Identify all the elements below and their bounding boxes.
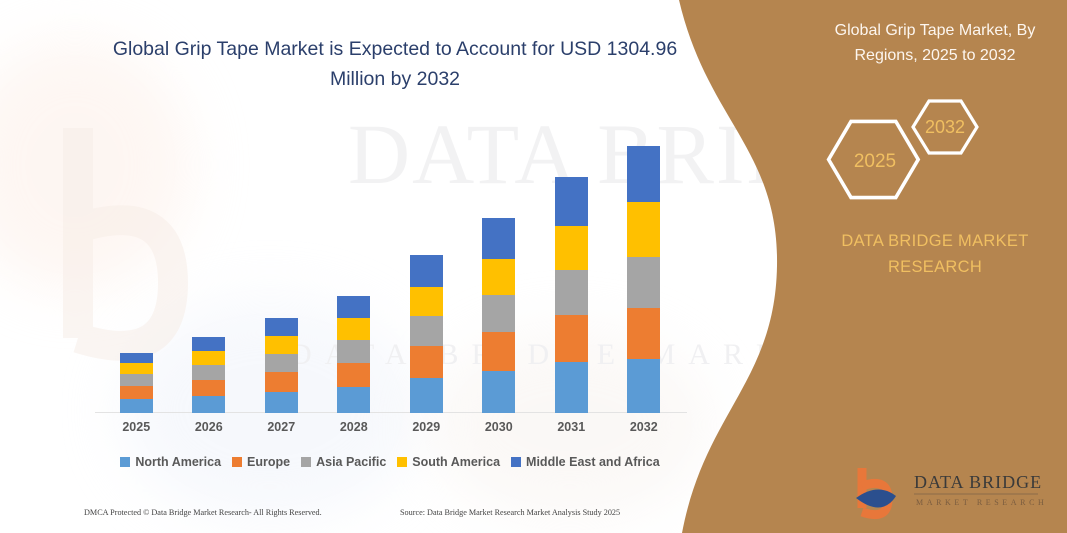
bar-segment xyxy=(120,374,153,386)
legend-swatch xyxy=(511,457,521,467)
bar-segment xyxy=(265,372,298,392)
bar-segment xyxy=(192,396,225,413)
infographic-canvas: DATA BRIDGE DATA BRIDGE MARKET RESEARCH … xyxy=(0,0,1067,533)
bar-segment xyxy=(482,259,515,295)
bar-segment xyxy=(482,295,515,332)
bar-segment xyxy=(337,363,370,387)
bar-segment xyxy=(337,340,370,363)
bar-column-2031 xyxy=(555,177,588,413)
x-axis-label-2028: 2028 xyxy=(337,420,370,434)
bar-segment xyxy=(265,392,298,413)
bar-column-2028 xyxy=(337,296,370,413)
bar-column-2026 xyxy=(192,337,225,413)
right-brand-panel: Global Grip Tape Market, By Regions, 202… xyxy=(647,0,1067,533)
bar-segment xyxy=(265,318,298,336)
chart-legend: North AmericaEuropeAsia PacificSouth Ame… xyxy=(100,455,680,469)
bar-segment xyxy=(192,337,225,351)
legend-label: Europe xyxy=(247,455,290,469)
x-axis-tick-labels: 20252026202720282029203020312032 xyxy=(100,420,680,434)
bar-segment xyxy=(120,353,153,363)
bar-segment xyxy=(337,296,370,318)
legend-item: North America xyxy=(120,455,221,469)
bar-segment xyxy=(410,255,443,287)
bar-segment xyxy=(482,332,515,371)
right-panel-title: Global Grip Tape Market, By Regions, 202… xyxy=(815,18,1055,68)
bar-segment xyxy=(265,354,298,372)
legend-item: Middle East and Africa xyxy=(511,455,660,469)
logo-tagline: MARKET RESEARCH xyxy=(916,498,1047,507)
x-axis-label-2026: 2026 xyxy=(192,420,225,434)
bar-segment xyxy=(120,399,153,413)
legend-item: Asia Pacific xyxy=(301,455,386,469)
bar-segment xyxy=(192,365,225,380)
bar-column-2025 xyxy=(120,353,153,413)
bar-segment xyxy=(337,387,370,413)
bar-segment xyxy=(410,316,443,346)
legend-label: South America xyxy=(412,455,500,469)
bar-column-2030 xyxy=(482,218,515,413)
bar-segment xyxy=(555,177,588,226)
bar-segment xyxy=(120,363,153,374)
hexagon-2025-label: 2032 xyxy=(925,117,965,137)
legend-swatch xyxy=(397,457,407,467)
legend-label: Asia Pacific xyxy=(316,455,386,469)
bar-segment xyxy=(555,315,588,362)
logo-name: DATA BRIDGE xyxy=(914,472,1042,492)
x-axis-label-2029: 2029 xyxy=(410,420,443,434)
chart-title: Global Grip Tape Market is Expected to A… xyxy=(105,34,685,94)
bar-segment xyxy=(192,380,225,396)
bar-segment xyxy=(337,318,370,340)
legend-item: Europe xyxy=(232,455,290,469)
bar-segment xyxy=(482,371,515,413)
legend-label: North America xyxy=(135,455,221,469)
data-bridge-logo: DATA BRIDGE MARKET RESEARCH xyxy=(852,462,1052,520)
bar-segment xyxy=(555,362,588,413)
footer-copyright: DMCA Protected © Data Bridge Market Rese… xyxy=(84,508,322,517)
legend-swatch xyxy=(120,457,130,467)
bar-column-2027 xyxy=(265,318,298,413)
bar-column-2029 xyxy=(410,255,443,413)
bar-segment xyxy=(555,226,588,270)
hexagon-year-group: 2032 2025 xyxy=(795,95,1055,215)
legend-swatch xyxy=(301,457,311,467)
bar-segment xyxy=(410,287,443,316)
legend-swatch xyxy=(232,457,242,467)
x-axis-label-2030: 2030 xyxy=(482,420,515,434)
x-axis-label-2031: 2031 xyxy=(555,420,588,434)
legend-item: South America xyxy=(397,455,500,469)
bar-segment xyxy=(482,218,515,259)
bar-segment xyxy=(120,386,153,399)
legend-label: Middle East and Africa xyxy=(526,455,660,469)
bar-segment xyxy=(192,351,225,365)
stacked-bar-series-group xyxy=(100,120,680,413)
logo-b-mark-icon xyxy=(856,468,896,515)
bar-segment xyxy=(410,378,443,413)
right-panel-brand: DATA BRIDGE MARKET RESEARCH xyxy=(815,228,1055,280)
hexagon-2032-label: 2025 xyxy=(854,151,896,172)
bar-segment xyxy=(555,270,588,315)
bar-segment xyxy=(265,336,298,354)
x-axis-label-2027: 2027 xyxy=(265,420,298,434)
bar-segment xyxy=(410,346,443,378)
x-axis-label-2025: 2025 xyxy=(120,420,153,434)
footer-source: Source: Data Bridge Market Research Mark… xyxy=(400,508,620,517)
